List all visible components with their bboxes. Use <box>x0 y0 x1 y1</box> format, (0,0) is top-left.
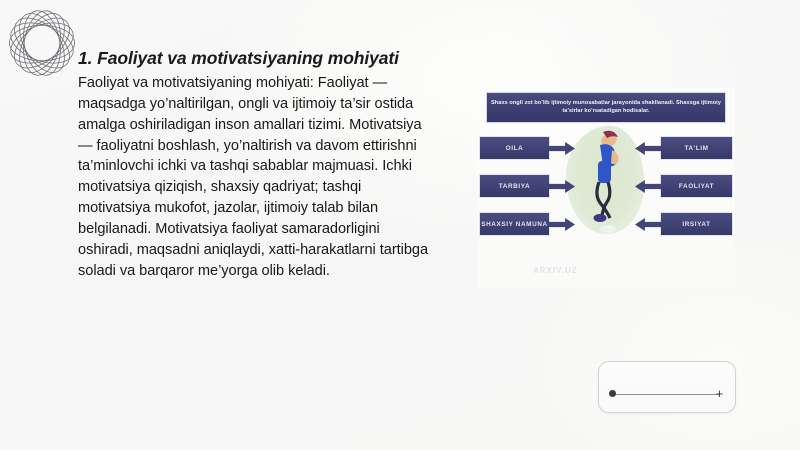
body-paragraph: Faoliyat va motivatsiyaning mohiyati: Fa… <box>78 73 430 282</box>
diagram-box-oila: OILA <box>479 136 550 160</box>
diagram-box-talim: TA’LIM <box>660 136 733 160</box>
diagram-box-irsiyat: IRSIYAT <box>660 212 733 236</box>
diagram-box-label: TARBIYA <box>499 183 531 190</box>
diagram-watermark: ARXIV.UZ <box>533 266 578 275</box>
plus-icon[interactable]: + <box>714 387 725 400</box>
diagram-box-shaxsiy-namuna: SHAXSIY NAMUNA <box>479 212 550 236</box>
slide-canvas: 1. Faoliyat va motivatsiyaning mohiyati … <box>0 0 800 450</box>
text-column: 1. Faoliyat va motivatsiyaning mohiyati … <box>78 48 430 282</box>
diagram-box-faoliyat: FAOLIYAT <box>660 174 733 198</box>
arrow-left-icon <box>635 218 661 231</box>
diagram-box-label: SHAXSIY NAMUNA <box>481 221 548 228</box>
slider-track[interactable] <box>613 394 719 395</box>
spirograph-rosette-logo <box>4 6 80 80</box>
diagram-box-label: OILA <box>506 145 524 152</box>
arrow-right-icon <box>549 218 575 231</box>
person-illustration <box>581 128 629 238</box>
slider-knob[interactable] <box>609 390 616 397</box>
diagram-box-label: IRSIYAT <box>682 221 710 228</box>
diagram-header: Shaxs ongli zot bo’lib ijtimoiy munosaba… <box>486 92 726 123</box>
page-title: 1. Faoliyat va motivatsiyaning mohiyati <box>78 48 430 70</box>
diagram-box-label: FAOLIYAT <box>679 183 714 190</box>
diagram-header-text: Shaxs ongli zot bo’lib ijtimoiy munosaba… <box>490 100 722 115</box>
diagram-box-label: TA’LIM <box>684 145 708 152</box>
diagram-box-tarbiya: TARBIYA <box>479 174 550 198</box>
slider-panel[interactable]: + <box>598 361 736 413</box>
diagram-image: Shaxs ongli zot bo’lib ijtimoiy munosaba… <box>477 88 735 288</box>
